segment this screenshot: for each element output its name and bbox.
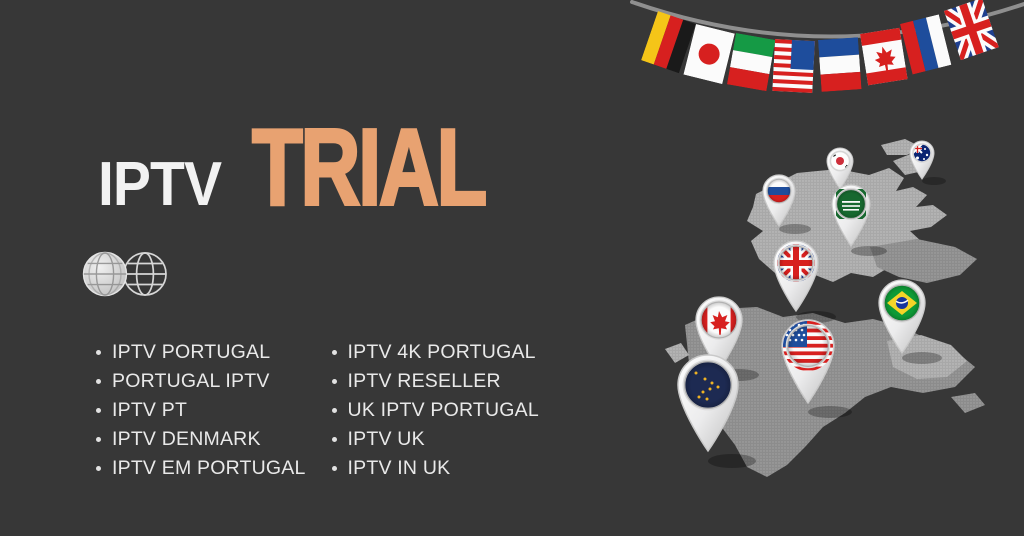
bullet-icon <box>96 408 101 413</box>
list-item: IPTV IN UK <box>332 454 539 483</box>
page-title: IPTV TRIAL <box>98 118 543 222</box>
globes-graphic <box>79 250 171 298</box>
list-item: IPTV PORTUGAL <box>96 338 306 367</box>
list-item-label: IPTV PT <box>112 399 187 422</box>
world-map <box>655 135 1024 480</box>
title-word-iptv: IPTV <box>98 154 221 216</box>
list-item-label: PORTUGAL IPTV <box>112 370 270 393</box>
bullet-icon <box>332 408 337 413</box>
list-item-label: IPTV UK <box>348 428 425 451</box>
bullet-icon <box>96 379 101 384</box>
france-flag <box>818 37 862 92</box>
keyword-column-left: IPTV PORTUGAL PORTUGAL IPTV IPTV PT IPTV… <box>96 338 306 483</box>
list-item: IPTV UK <box>332 425 539 454</box>
bullet-icon <box>332 466 337 471</box>
list-item: IPTV 4K PORTUGAL <box>332 338 539 367</box>
canada-flag <box>860 28 908 86</box>
list-item-label: IPTV 4K PORTUGAL <box>348 341 536 364</box>
usa-flag <box>772 39 815 93</box>
list-item-label: IPTV PORTUGAL <box>112 341 270 364</box>
list-item: IPTV DENMARK <box>96 425 306 454</box>
keyword-lists: IPTV PORTUGAL PORTUGAL IPTV IPTV PT IPTV… <box>96 338 539 483</box>
uk-flag <box>944 0 999 60</box>
bullet-icon <box>332 379 337 384</box>
list-item: UK IPTV PORTUGAL <box>332 396 539 425</box>
bullet-icon <box>332 437 337 442</box>
list-item-label: IPTV EM PORTUGAL <box>112 457 306 480</box>
globe-filled-icon <box>84 253 127 296</box>
list-item: IPTV PT <box>96 396 306 425</box>
list-item: IPTV RESELLER <box>332 367 539 396</box>
list-item: PORTUGAL IPTV <box>96 367 306 396</box>
bullet-icon <box>96 466 101 471</box>
bullet-icon <box>332 350 337 355</box>
bullet-icon <box>96 437 101 442</box>
list-item-label: IPTV DENMARK <box>112 428 261 451</box>
list-item: IPTV EM PORTUGAL <box>96 454 306 483</box>
flag-bunting <box>628 0 1024 96</box>
list-item-label: IPTV IN UK <box>348 457 451 480</box>
iptv-trial-banner: IPTV TRIAL <box>0 0 1024 536</box>
list-item-label: IPTV RESELLER <box>348 370 501 393</box>
russia-flag <box>900 14 951 74</box>
list-item-label: UK IPTV PORTUGAL <box>348 399 539 422</box>
title-word-trial: TRIAL <box>252 114 485 222</box>
bullet-icon <box>96 350 101 355</box>
keyword-column-right: IPTV 4K PORTUGAL IPTV RESELLER UK IPTV P… <box>332 338 539 483</box>
australia-pin[interactable] <box>910 141 946 185</box>
globe-outline-icon <box>124 253 166 295</box>
italy-flag <box>727 33 775 91</box>
